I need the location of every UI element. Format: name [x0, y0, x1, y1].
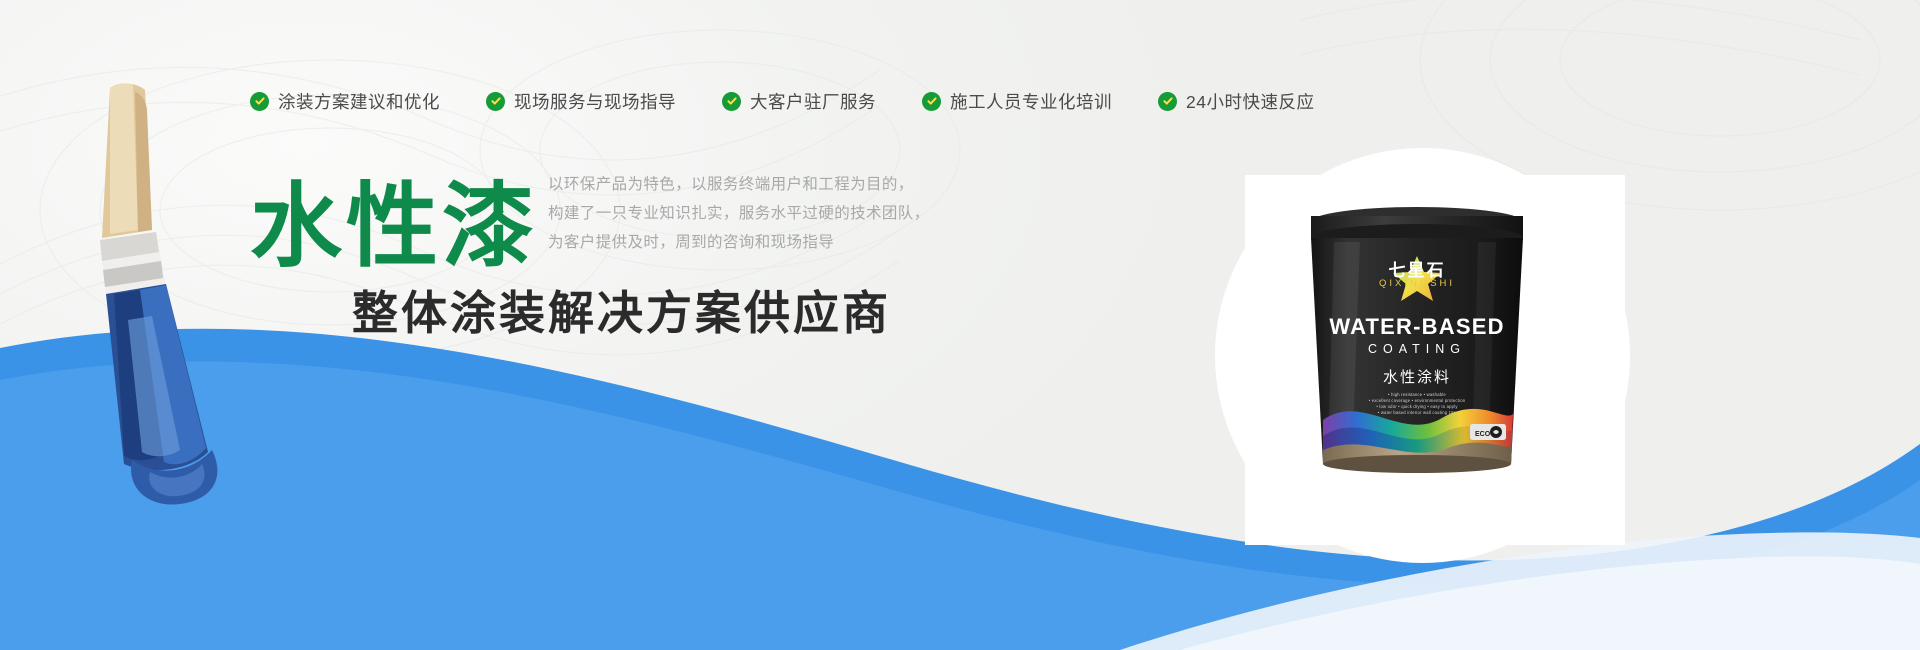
paint-bucket-product: ECO: [1282, 196, 1552, 506]
check-circle-icon: [722, 92, 741, 111]
feature-item[interactable]: 施工人员专业化培训: [922, 89, 1112, 114]
headline-main: 水性漆: [250, 181, 538, 273]
description-line: 以环保产品为特色，以服务终端用户和工程为目的，: [548, 170, 948, 199]
sub-headline: 整体涂装解决方案供应商: [352, 288, 891, 339]
blue-wave-decoration: [0, 230, 1920, 650]
feature-label: 施工人员专业化培训: [950, 89, 1112, 114]
svg-text:ECO: ECO: [1475, 431, 1491, 438]
feature-list: 涂装方案建议和优化 现场服务与现场指导 大客户驻厂服务 施工人员专业化培训 24: [250, 84, 1670, 118]
description-line: 构建了一只专业知识扎实，服务水平过硬的技术团队，: [548, 199, 948, 228]
promo-banner: 涂装方案建议和优化 现场服务与现场指导 大客户驻厂服务 施工人员专业化培训 24: [0, 0, 1920, 650]
feature-item[interactable]: 现场服务与现场指导: [486, 89, 676, 114]
check-circle-icon: [250, 92, 269, 111]
feature-label: 24小时快速反应: [1186, 89, 1314, 114]
check-circle-icon: [1158, 92, 1177, 111]
feature-label: 涂装方案建议和优化: [278, 89, 440, 114]
feature-label: 大客户驻厂服务: [750, 89, 876, 114]
check-circle-icon: [486, 92, 505, 111]
headline-description: 以环保产品为特色，以服务终端用户和工程为目的， 构建了一只专业知识扎实，服务水平…: [548, 170, 948, 257]
feature-item[interactable]: 24小时快速反应: [1158, 89, 1314, 114]
description-line: 为客户提供及时，周到的咨询和现场指导: [548, 228, 948, 257]
paint-brush-illustration: [40, 80, 260, 510]
check-circle-icon: [922, 92, 941, 111]
feature-item[interactable]: 大客户驻厂服务: [722, 89, 876, 114]
feature-label: 现场服务与现场指导: [514, 89, 676, 114]
eco-badge-icon: ECO: [1470, 424, 1506, 440]
feature-item[interactable]: 涂装方案建议和优化: [250, 89, 440, 114]
